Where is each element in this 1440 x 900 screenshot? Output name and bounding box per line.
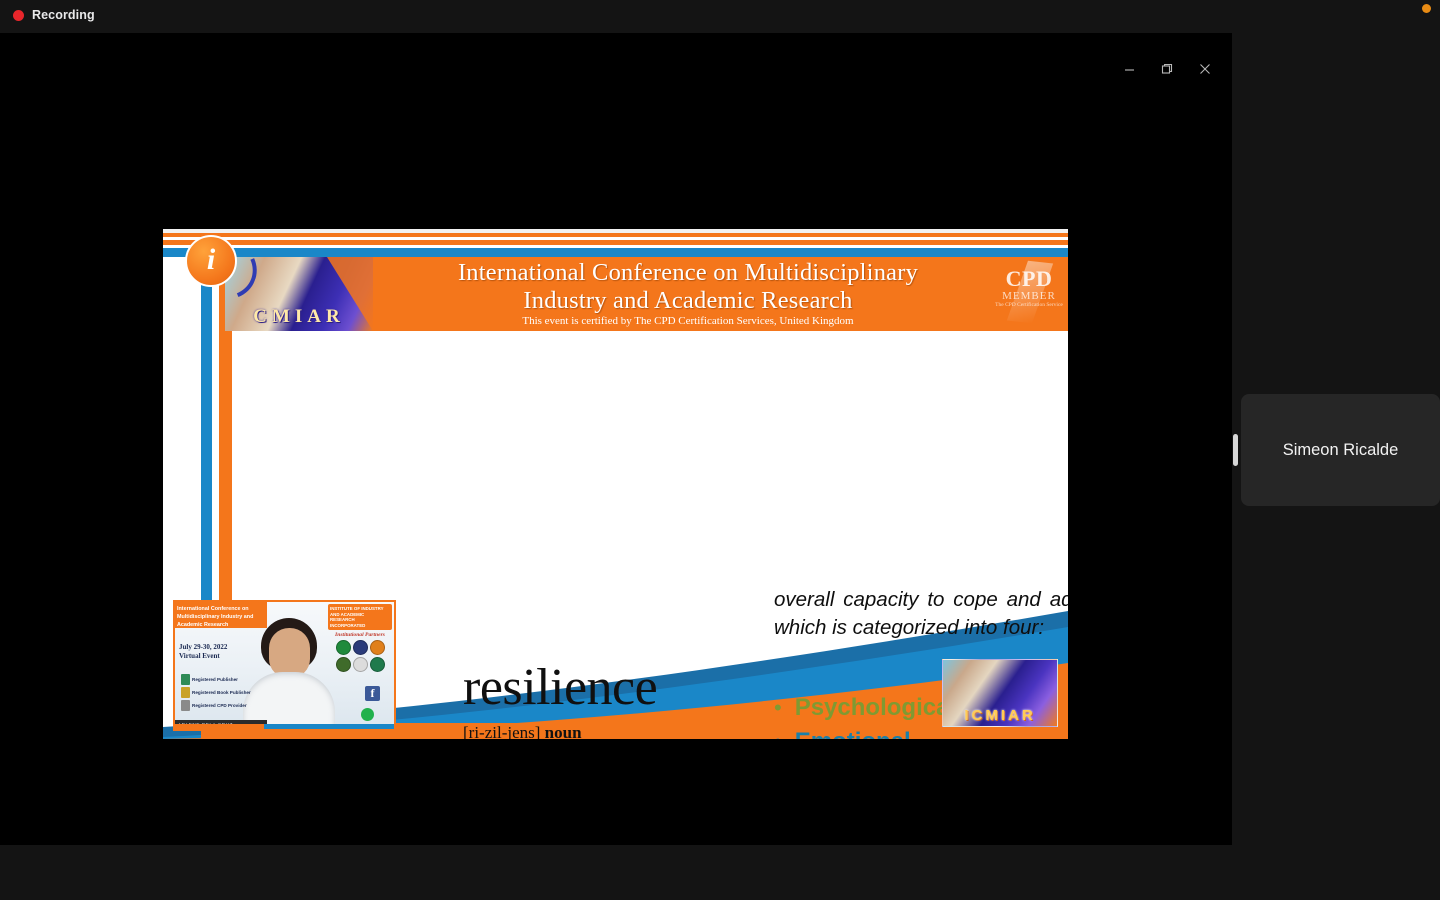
cpd-logo-main: CPD: [995, 268, 1063, 290]
badge-icon: [181, 700, 190, 711]
viber-icon: [361, 708, 374, 721]
bullet-item-emotional: • Emotional: [774, 729, 956, 739]
partner-seal-icon: [336, 640, 351, 655]
badge-registered-book-publisher: Registered Book Publisher: [181, 687, 251, 698]
conference-i-badge-icon: i: [185, 235, 237, 287]
partner-seal-icon: [353, 657, 368, 672]
header-title-line-1: International Conference on Multidiscipl…: [368, 259, 1008, 287]
badge-registered-cpd-provider: Registered CPD Provider: [181, 700, 251, 711]
meeting-stage: ICMIAR CMIAR International Conference on…: [0, 33, 1232, 845]
cpd-logo-member: MEMBER: [995, 290, 1063, 302]
bullet-label: Emotional: [795, 729, 911, 739]
partner-seal-icon: [370, 640, 385, 655]
webcam-registration-badges: Registered Publisher Registered Book Pub…: [181, 674, 251, 713]
bullet-dot-icon: •: [774, 731, 782, 739]
event-mode: Virtual Event: [179, 652, 227, 661]
pronunciation-text: [ri-zil-jens]: [463, 723, 540, 739]
cmiar-logo-text: CMIAR: [229, 307, 369, 327]
window-controls: [1110, 55, 1224, 83]
badge-label: Registered CPD Provider: [192, 703, 247, 708]
cpd-member-logo: CPD MEMBER The CPD Certification Service: [995, 260, 1063, 326]
resilience-word: resilience: [463, 661, 723, 715]
webcam-event-date: July 29-30, 2022 Virtual Event: [179, 643, 227, 661]
partner-seal-icon: [336, 657, 351, 672]
cpd-logo-caption: The CPD Certification Service: [995, 302, 1063, 309]
participant-name: Simeon Ricalde: [1283, 441, 1399, 459]
slide-paragraph: overall capacity to cope and adapt which…: [774, 586, 1068, 641]
partner-seal-icon: [370, 657, 385, 672]
resilience-pronunciation: [ri-zil-jens] noun: [463, 723, 723, 739]
slide-header-title: International Conference on Multidiscipl…: [368, 259, 1008, 315]
badge-icon: [181, 687, 190, 698]
icmiar-logo-text: ICMIAR: [964, 707, 1035, 724]
minimize-button[interactable]: [1110, 55, 1148, 83]
bullet-dot-icon: •: [774, 697, 782, 719]
bullet-label: Psychological: [795, 695, 956, 721]
event-date: July 29-30, 2022: [179, 643, 227, 652]
recording-label: Recording: [32, 9, 95, 22]
speaker-face: [269, 628, 310, 678]
participant-tile[interactable]: Simeon Ricalde: [1241, 394, 1440, 506]
recording-topbar: Recording: [0, 0, 1440, 33]
resilience-wordart: resilience [ri-zil-jens] noun: [463, 661, 723, 739]
badge-registered-publisher: Registered Publisher: [181, 674, 251, 685]
webcam-partner-logos: INSTITUTE OF INDUSTRY AND ACADEMIC RESEA…: [328, 604, 392, 672]
speaker-video-thumbnail[interactable]: International Conference on Multidiscipl…: [173, 600, 396, 731]
badge-label: Registered Publisher: [192, 677, 238, 682]
partners-heading: Institutional Partners: [328, 632, 392, 638]
facebook-icon: f: [365, 686, 380, 701]
status-indicator-dot-icon[interactable]: [1422, 4, 1431, 13]
recording-indicator: Recording: [13, 9, 95, 22]
bullet-item-psychological: • Psychological: [774, 695, 956, 721]
restore-button[interactable]: [1148, 55, 1186, 83]
slide-header-subtitle: This event is certified by The CPD Certi…: [368, 315, 1008, 328]
webcam-bottom-strip: [175, 724, 396, 729]
top-stripe-blue: [163, 248, 1068, 257]
part-of-speech: noun: [545, 723, 582, 739]
slide-bullet-list: • Psychological • Emotional • Physical •…: [774, 695, 956, 739]
badge-icon: [181, 674, 190, 685]
record-dot-icon: [13, 10, 24, 21]
partner-seal-icon: [353, 640, 368, 655]
speaker-figure: [237, 618, 341, 731]
close-button[interactable]: [1186, 55, 1224, 83]
panel-drag-handle[interactable]: [1233, 434, 1238, 466]
badge-label: Registered Book Publisher: [192, 690, 251, 695]
icmiar-logo: ICMIAR: [942, 659, 1058, 727]
partner-seal-grid: [328, 640, 392, 672]
header-title-line-2: Industry and Academic Research: [368, 287, 1008, 315]
institute-logo-text: INSTITUTE OF INDUSTRY AND ACADEMIC RESEA…: [328, 604, 392, 630]
